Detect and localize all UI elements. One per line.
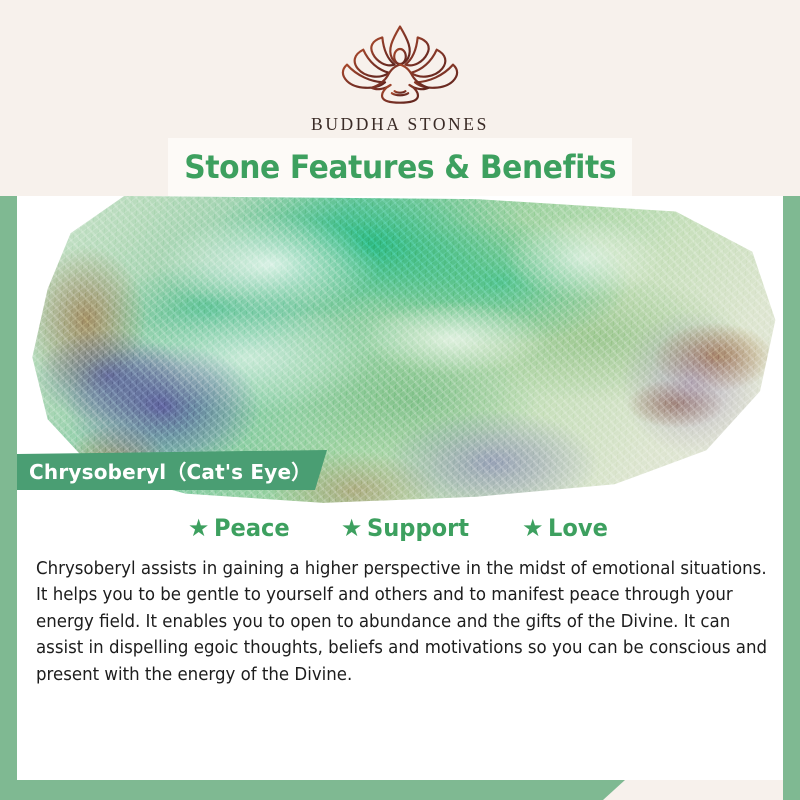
stone-description: Chrysoberyl assists in gaining a higher … bbox=[36, 556, 776, 688]
benefit-label: Love bbox=[548, 514, 608, 542]
star-icon: ★ bbox=[341, 516, 363, 540]
content-panel: ★ Peace ★ Support ★ Love Chrysoberyl ass… bbox=[17, 506, 783, 780]
benefits-row: ★ Peace ★ Support ★ Love bbox=[17, 506, 783, 542]
card-header: BUDDHA STONES Stone Features & Benefits bbox=[0, 0, 800, 196]
brand-name: BUDDHA STONES bbox=[0, 114, 800, 135]
stone-name-label: Chrysoberyl（Cat's Eye） bbox=[29, 456, 312, 485]
benefit-item-peace: ★ Peace bbox=[188, 514, 295, 542]
page-title: Stone Features & Benefits bbox=[184, 148, 616, 186]
stone-name-banner: Chrysoberyl（Cat's Eye） bbox=[17, 450, 327, 490]
title-plate: Stone Features & Benefits bbox=[168, 138, 632, 196]
brand-logo: BUDDHA STONES bbox=[0, 22, 800, 135]
star-icon: ★ bbox=[188, 516, 210, 540]
stone-info-card: BUDDHA STONES Stone Features & Benefits … bbox=[0, 0, 800, 800]
frame-border-left bbox=[0, 196, 17, 800]
benefit-label: Peace bbox=[214, 514, 290, 542]
lotus-meditation-logo-icon bbox=[332, 22, 468, 110]
frame-border-bottom bbox=[0, 780, 625, 800]
star-icon: ★ bbox=[522, 516, 544, 540]
benefit-label: Support bbox=[367, 514, 469, 542]
benefit-item-support: ★ Support bbox=[341, 514, 476, 542]
benefit-item-love: ★ Love bbox=[522, 514, 612, 542]
